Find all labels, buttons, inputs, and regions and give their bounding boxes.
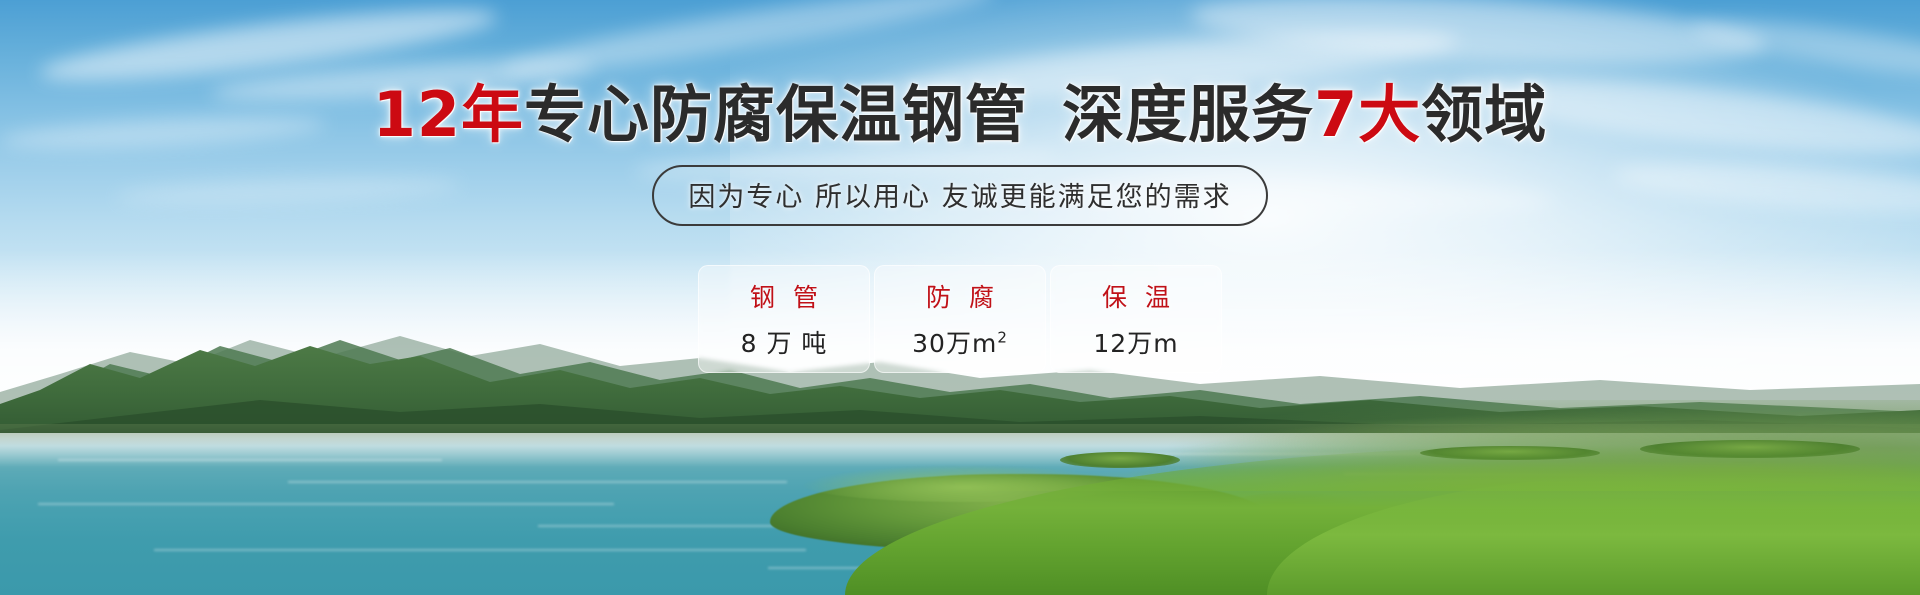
- stat-value: 30万m2: [912, 324, 1008, 360]
- stat-card-insulation: 保 温 12万m: [1050, 265, 1222, 373]
- stat-card-steel-pipe: 钢 管 8 万 吨: [698, 265, 870, 373]
- water-streak: [288, 481, 787, 483]
- headline-fields-text: 领域: [1421, 78, 1547, 151]
- banner-subtitle-row: 因为专心 所以用心 友诚更能满足您的需求: [0, 165, 1920, 226]
- banner-content: 12年专心防腐保温钢管深度服务7大领域 因为专心 所以用心 友诚更能满足您的需求: [0, 0, 1920, 226]
- water-streak: [58, 459, 442, 461]
- water-streak: [38, 503, 614, 505]
- headline-years: 12年: [373, 78, 524, 151]
- stat-value-text: 8 万 吨: [741, 329, 828, 358]
- hero-banner: 12年专心防腐保温钢管深度服务7大领域 因为专心 所以用心 友诚更能满足您的需求…: [0, 0, 1920, 595]
- stat-value-text: 12万m: [1093, 329, 1178, 358]
- stat-label: 保 温: [1097, 278, 1175, 314]
- banner-headline: 12年专心防腐保温钢管深度服务7大领域: [0, 82, 1920, 147]
- headline-main-text: 专心防腐保温钢管: [524, 78, 1028, 151]
- stat-label: 钢 管: [745, 278, 823, 314]
- stat-value-superscript: 2: [997, 329, 1008, 347]
- headline-seven-fields: 7大: [1314, 78, 1421, 151]
- stat-label: 防 腐: [921, 278, 999, 314]
- stat-card-anticorrosion: 防 腐 30万m2: [874, 265, 1046, 373]
- stat-value-text: 30万m: [912, 329, 997, 358]
- headline-service-text: 深度服务: [1062, 78, 1314, 151]
- stat-card-group: 钢 管 8 万 吨 防 腐 30万m2 保 温 12万m: [0, 265, 1920, 373]
- stat-value: 12万m: [1093, 324, 1178, 360]
- water-streak: [154, 549, 807, 551]
- subtitle-pill: 因为专心 所以用心 友诚更能满足您的需求: [652, 165, 1267, 226]
- stat-value: 8 万 吨: [741, 324, 828, 360]
